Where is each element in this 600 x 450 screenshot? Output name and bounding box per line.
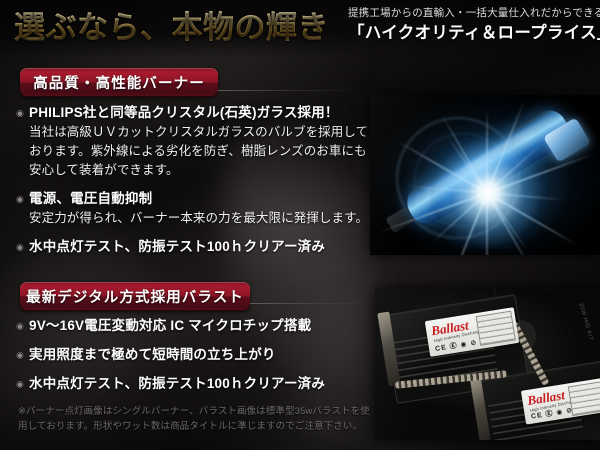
ballast-label-spec-table [568,381,600,416]
product-photo-burner [370,95,600,255]
list-item: ◉ 電源、電圧自動抑制 安定力が得られ、バーナー本来の力を最大限に発揮します。 [16,189,366,228]
list-item: ◉ 水中点灯テスト、防振テスト100ｈクリアー済み [16,237,366,257]
list-item-detail: おります。紫外線による劣化を防ぎ、樹脂レンズのお車にも [29,142,368,161]
list-item-body: 電源、電圧自動抑制 安定力が得られ、バーナー本来の力を最大限に発揮します。 [29,189,368,228]
burner-arc-flare [430,137,546,249]
bullet-icon: ◉ [16,316,29,336]
list-item-detail: 安定力が得られ、バーナー本来の力を最大限に発揮します。 [29,209,368,228]
feature-list-ballast: ◉ 9V〜16V電圧変動対応 IC マイクロチップ搭載 ◉ 実用照度まで極めて短… [16,316,366,403]
header-catchcopy: 「ハイクオリティ＆ロープライス」 [348,21,592,46]
section-badge-burner-label: 高品質・高性能バーナー [33,72,205,93]
list-item: ◉ 9V〜16V電圧変動対応 IC マイクロチップ搭載 [16,316,366,336]
list-item-body: 実用照度まで極めて短時間の立ち上がり [29,345,366,365]
list-item: ◉ 実用照度まで極めて短時間の立ち上がり [16,345,366,365]
page-title: 選ぶなら、本物の輝き [14,4,354,51]
bullet-icon: ◉ [16,237,29,257]
product-photo-ballast: B Ballast High Intensity Discharge CE Ⓔ … [375,288,600,440]
list-item-heading: 水中点灯テスト、防振テスト100ｈクリアー済み [29,237,366,257]
header-tagline: 提携工場からの直輸入・一括大量仕入れだからできる [348,6,592,21]
list-item-body: 水中点灯テスト、防振テスト100ｈクリアー済み [29,237,366,257]
bullet-icon: ◉ [16,374,29,394]
list-item: ◉ PHILIPS社と同等品クリスタル(石英)ガラス採用！ 当社は高級ＵＶカット… [16,103,366,180]
list-item: ◉ 水中点灯テスト、防振テスト100ｈクリアー済み [16,374,366,394]
list-item-body: 9V〜16V電圧変動対応 IC マイクロチップ搭載 [29,316,366,336]
list-item-heading: 水中点灯テスト、防振テスト100ｈクリアー済み [29,374,366,394]
badge-rule [250,303,370,304]
feature-list-burner: ◉ PHILIPS社と同等品クリスタル(石英)ガラス採用！ 当社は高級ＵＶカット… [16,103,366,266]
list-item-detail: 安心して装着ができます。 [29,161,368,180]
section-badge-ballast-label: 最新デジタル方式採用バラスト [26,286,244,307]
section-badge-ballast: 最新デジタル方式採用バラスト [20,282,250,311]
list-item-heading: 9V〜16V電圧変動対応 IC マイクロチップ搭載 [29,316,366,336]
list-item-heading: 実用照度まで極めて短時間の立ち上がり [29,345,366,365]
badge-rule [218,90,363,91]
list-item-detail: 当社は高級ＵＶカットクリスタルガラスのバルブを採用して [29,123,368,142]
list-item-body: PHILIPS社と同等品クリスタル(石英)ガラス採用！ 当社は高級ＵＶカットクリ… [29,103,368,180]
list-item-heading: PHILIPS社と同等品クリスタル(石英)ガラス採用！ [29,103,368,123]
section-badge-burner: 高品質・高性能バーナー [20,68,218,97]
disclaimer-note: ※バーナー点灯画像はシングルバーナー、バラスト画像は標準型35wバラストを使用し… [18,404,370,434]
bullet-icon: ◉ [16,189,29,209]
bullet-icon: ◉ [16,103,29,123]
list-item-body: 水中点灯テスト、防振テスト100ｈクリアー済み [29,374,366,394]
promo-banner: 選ぶなら、本物の輝き 提携工場からの直輸入・一括大量仕入れだからできる 「ハイク… [0,0,600,450]
ballast-label-spec-table [476,311,516,346]
header-copy: 提携工場からの直輸入・一括大量仕入れだからできる 「ハイクオリティ＆ロープライス… [348,6,592,46]
list-item-heading: 電源、電圧自動抑制 [29,189,368,209]
bullet-icon: ◉ [16,345,29,365]
